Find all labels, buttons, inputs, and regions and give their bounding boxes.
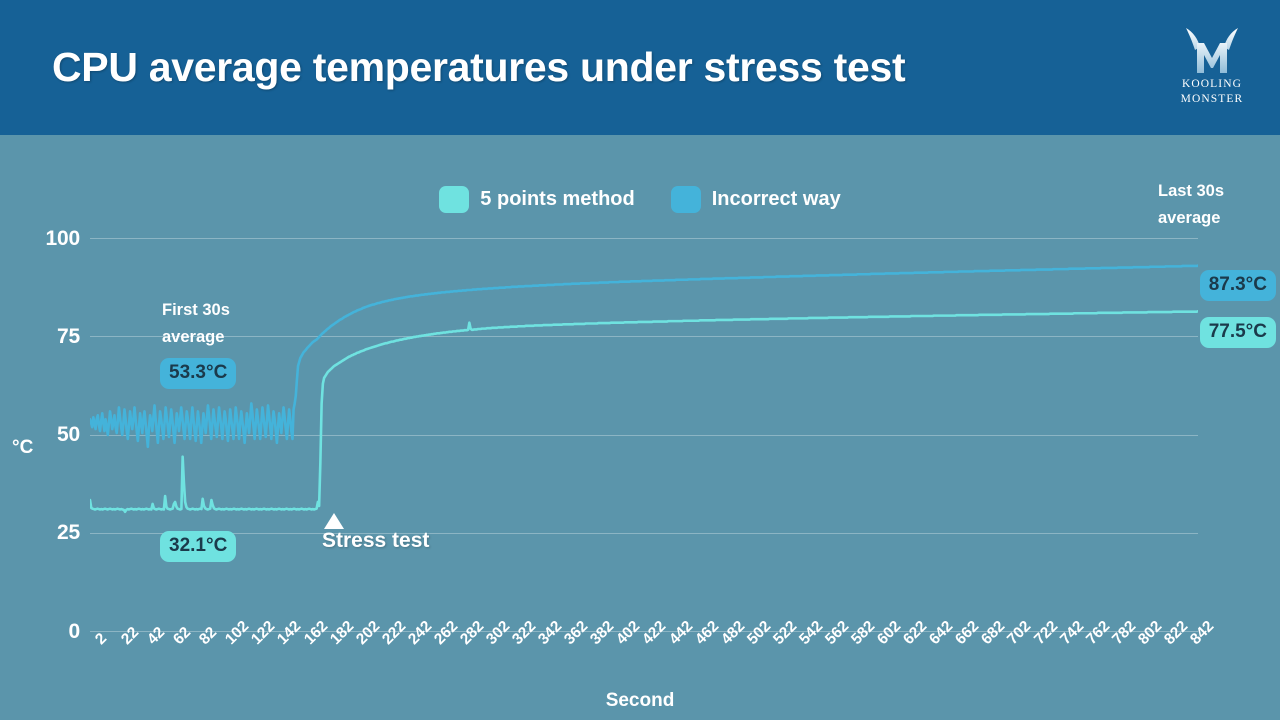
last-30s-title-line1: Last 30s [1158,182,1224,200]
page-title: CPU average temperatures under stress te… [52,44,905,91]
badge-first-30s-five-points: 32.1°C [160,531,236,562]
first-30s-average-title: First 30s average [162,297,282,351]
first-30s-title-line2: average [162,328,224,346]
logo-text-line1: KOOLING [1166,78,1258,91]
slide-root: CPU average temperatures under stress te… [0,0,1280,720]
stress-test-marker-icon [324,513,344,529]
y-tick-75: 75 [10,325,80,349]
y-tick-0: 0 [10,620,80,644]
logo-text-line2: MONSTER [1166,93,1258,106]
y-tick-100: 100 [10,227,80,251]
last-30s-average-title: Last 30s average [1158,178,1268,232]
first-30s-title-line1: First 30s [162,301,230,319]
chart-legend: 5 points method Incorrect way [0,186,1280,213]
brand-logo: KOOLING MONSTER [1166,26,1258,114]
y-tick-25: 25 [10,521,80,545]
legend-label-five-points: 5 points method [480,188,634,211]
legend-swatch-incorrect-way [671,186,701,213]
x-tick-2: 2 [92,630,111,649]
header-bar: CPU average temperatures under stress te… [0,0,1280,135]
legend-item-incorrect-way[interactable]: Incorrect way [671,186,841,213]
x-axis-ticks: 2224262821021221421621822022222422622823… [90,636,1198,686]
legend-swatch-five-points [439,186,469,213]
badge-last-30s-five-points: 77.5°C [1200,317,1276,348]
badge-last-30s-incorrect: 87.3°C [1200,270,1276,301]
legend-label-incorrect-way: Incorrect way [712,188,841,211]
y-axis-label: °C [12,437,33,459]
legend-item-five-points[interactable]: 5 points method [439,186,634,213]
series-line-incorrect-way [90,266,1198,447]
x-axis-label: Second [0,690,1280,712]
monster-m-logo-icon [1183,26,1241,76]
badge-first-30s-incorrect: 53.3°C [160,358,236,389]
last-30s-title-line2: average [1158,209,1220,227]
stress-test-label: Stress test [322,529,429,553]
